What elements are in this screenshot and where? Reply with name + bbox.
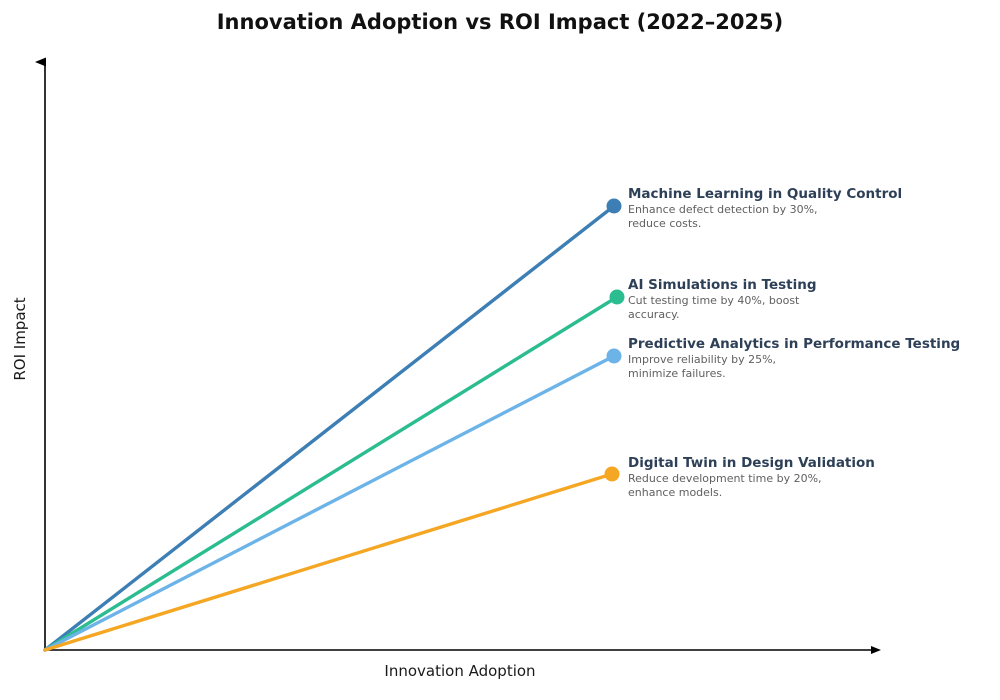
endpoint-marker-0[interactable] bbox=[607, 199, 622, 214]
x-axis-label: Innovation Adoption bbox=[330, 662, 590, 680]
series-line-1 bbox=[45, 297, 617, 650]
series-group bbox=[45, 206, 617, 650]
series-annotation-1: AI Simulations in Testing Cut testing ti… bbox=[628, 278, 998, 321]
endpoint-marker-group bbox=[605, 199, 625, 482]
series-line-3 bbox=[45, 474, 612, 650]
series-annotation-3: Digital Twin in Design Validation Reduce… bbox=[628, 456, 998, 499]
series-annotation-desc-1: Cut testing time by 40%, boost accuracy. bbox=[628, 294, 998, 321]
series-line-2 bbox=[45, 356, 614, 650]
series-annotation-desc-line1-0: Enhance defect detection by 30%, bbox=[628, 203, 998, 217]
y-axis-label: ROI Impact bbox=[11, 279, 29, 399]
series-annotation-2: Predictive Analytics in Performance Test… bbox=[628, 337, 998, 380]
series-annotation-desc-line1-1: Cut testing time by 40%, boost bbox=[628, 294, 998, 308]
series-annotation-desc-2: Improve reliability by 25%, minimize fai… bbox=[628, 353, 998, 380]
chart-container: Innovation Adoption vs ROI Impact (2022–… bbox=[0, 0, 1000, 700]
series-annotation-desc-0: Enhance defect detection by 30%, reduce … bbox=[628, 203, 998, 230]
series-line-0 bbox=[45, 206, 614, 650]
series-annotation-title-3: Digital Twin in Design Validation bbox=[628, 456, 998, 471]
endpoint-marker-3[interactable] bbox=[605, 467, 620, 482]
endpoint-marker-2[interactable] bbox=[607, 349, 622, 364]
series-annotation-desc-line1-2: Improve reliability by 25%, bbox=[628, 353, 998, 367]
series-annotation-desc-line2-2: minimize failures. bbox=[628, 367, 998, 381]
series-annotation-desc-line1-3: Reduce development time by 20%, bbox=[628, 472, 998, 486]
series-annotation-desc-line2-1: accuracy. bbox=[628, 308, 998, 322]
series-annotation-desc-line2-3: enhance models. bbox=[628, 486, 998, 500]
series-annotation-title-2: Predictive Analytics in Performance Test… bbox=[628, 337, 998, 352]
series-annotation-desc-line2-0: reduce costs. bbox=[628, 217, 998, 231]
series-annotation-desc-3: Reduce development time by 20%, enhance … bbox=[628, 472, 998, 499]
series-annotation-title-1: AI Simulations in Testing bbox=[628, 278, 998, 293]
series-annotation-0: Machine Learning in Quality Control Enha… bbox=[628, 187, 998, 230]
endpoint-marker-1[interactable] bbox=[610, 290, 625, 305]
series-annotation-title-0: Machine Learning in Quality Control bbox=[628, 187, 998, 202]
